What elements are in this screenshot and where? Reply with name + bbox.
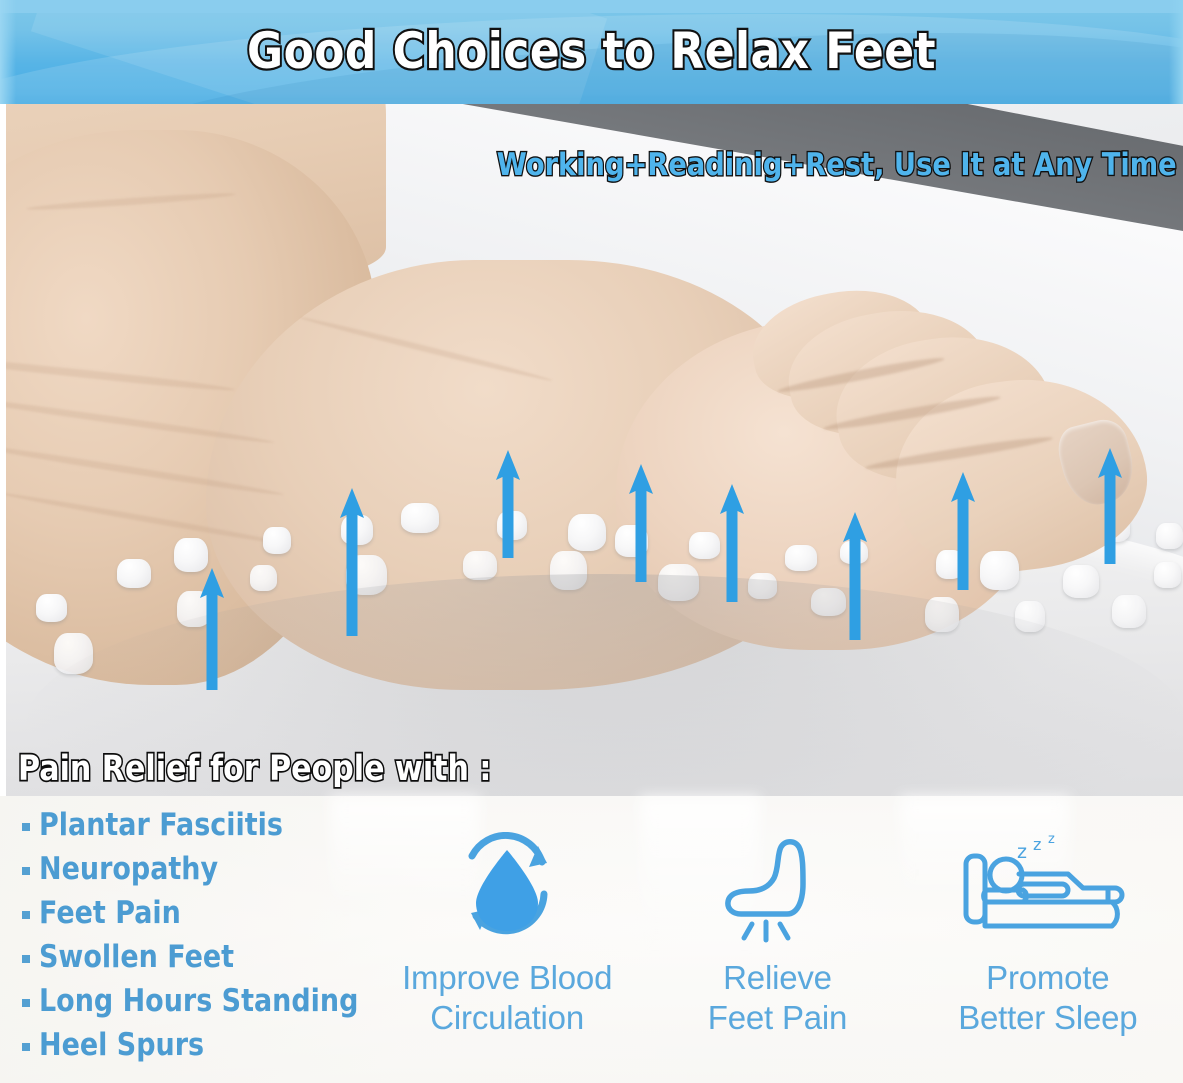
massage-nub: [401, 503, 439, 533]
list-item-label: Heel Spurs: [39, 1024, 204, 1067]
massage-nub: [263, 527, 291, 554]
water-drop-recycle-icon: [372, 830, 642, 952]
up-arrow-icon: [1097, 448, 1123, 564]
product-photo: Working+Readinig+Rest, Use It at Any Tim…: [0, 104, 1183, 796]
list-item-label: Swollen Feet: [39, 936, 234, 979]
list-item-label: Long Hours Standing: [39, 980, 358, 1023]
benefit-label: Promote Better Sleep: [913, 958, 1183, 1038]
up-arrow-icon: [842, 512, 868, 640]
up-arrow-icon: [495, 450, 521, 558]
product-infographic: Good Choices to Relax Feet: [0, 0, 1183, 1083]
foot-pain-icon: [642, 830, 912, 952]
benefit-promote-better-sleep: z z z Promote Better Sleep: [913, 830, 1183, 1038]
up-arrow-icon: [339, 488, 365, 636]
list-item-label: Plantar Fasciitis: [39, 804, 283, 847]
up-arrow-icon: [628, 464, 654, 582]
massage-nub: [117, 559, 151, 588]
massage-nub: [1154, 562, 1181, 588]
benefit-label-line2: Circulation: [372, 998, 642, 1038]
massage-nub: [689, 532, 721, 558]
banner-top-rule: [0, 0, 1183, 13]
list-item: Feet Pain: [22, 892, 392, 935]
massage-nub: [785, 545, 817, 571]
list-item-label: Feet Pain: [39, 892, 181, 935]
pain-relief-heading: Pain Relief for People with :: [18, 749, 491, 789]
list-item-label: Neuropathy: [39, 848, 218, 891]
square-bullet-icon: [22, 911, 30, 919]
benefits-panel: Plantar FasciitisNeuropathyFeet PainSwol…: [0, 796, 1183, 1083]
square-bullet-icon: [22, 955, 30, 963]
pain-relief-list: Plantar FasciitisNeuropathyFeet PainSwol…: [22, 804, 392, 1068]
square-bullet-icon: [22, 867, 30, 875]
square-bullet-icon: [22, 999, 30, 1007]
bed-sleeping-person-icon: z z z: [913, 830, 1183, 952]
square-bullet-icon: [22, 1043, 30, 1051]
square-bullet-icon: [22, 823, 30, 831]
benefit-label-line2: Better Sleep: [913, 998, 1183, 1038]
svg-text:z: z: [1033, 835, 1041, 854]
banner-right-edge: [1169, 0, 1183, 106]
benefit-label: Improve Blood Circulation: [372, 958, 642, 1038]
list-item: Long Hours Standing: [22, 980, 392, 1023]
massage-nub: [1112, 595, 1145, 628]
list-item: Swollen Feet: [22, 936, 392, 979]
massage-nub: [980, 551, 1019, 589]
massage-nub: [174, 538, 208, 572]
page-title: Good Choices to Relax Feet: [71, 20, 1112, 82]
svg-text:z: z: [1048, 832, 1055, 847]
benefit-improve-blood-circulation: Improve Blood Circulation: [372, 830, 642, 1038]
up-arrow-icon: [199, 568, 225, 690]
benefit-label: Relieve Feet Pain: [642, 958, 912, 1038]
massage-nub: [1063, 565, 1099, 597]
benefit-label-line2: Feet Pain: [642, 998, 912, 1038]
benefit-label-line1: Improve Blood: [372, 958, 642, 998]
photo-subtitle: Working+Readinig+Rest, Use It at Any Tim…: [497, 146, 1177, 184]
up-arrow-icon: [719, 484, 745, 602]
benefit-icons-row: Improve Blood Circulation Relieve Feet P…: [372, 830, 1183, 1083]
massage-nub: [568, 514, 606, 551]
massage-nub: [36, 594, 67, 622]
list-item: Plantar Fasciitis: [22, 804, 392, 847]
massage-nub: [250, 565, 277, 591]
benefit-label-line1: Promote: [913, 958, 1183, 998]
list-item: Heel Spurs: [22, 1024, 392, 1067]
up-arrow-icon: [950, 472, 976, 590]
list-item: Neuropathy: [22, 848, 392, 891]
svg-text:z: z: [1017, 841, 1027, 863]
benefit-label-line1: Relieve: [642, 958, 912, 998]
benefit-relieve-feet-pain: Relieve Feet Pain: [642, 830, 912, 1038]
banner-left-edge: [0, 0, 16, 106]
